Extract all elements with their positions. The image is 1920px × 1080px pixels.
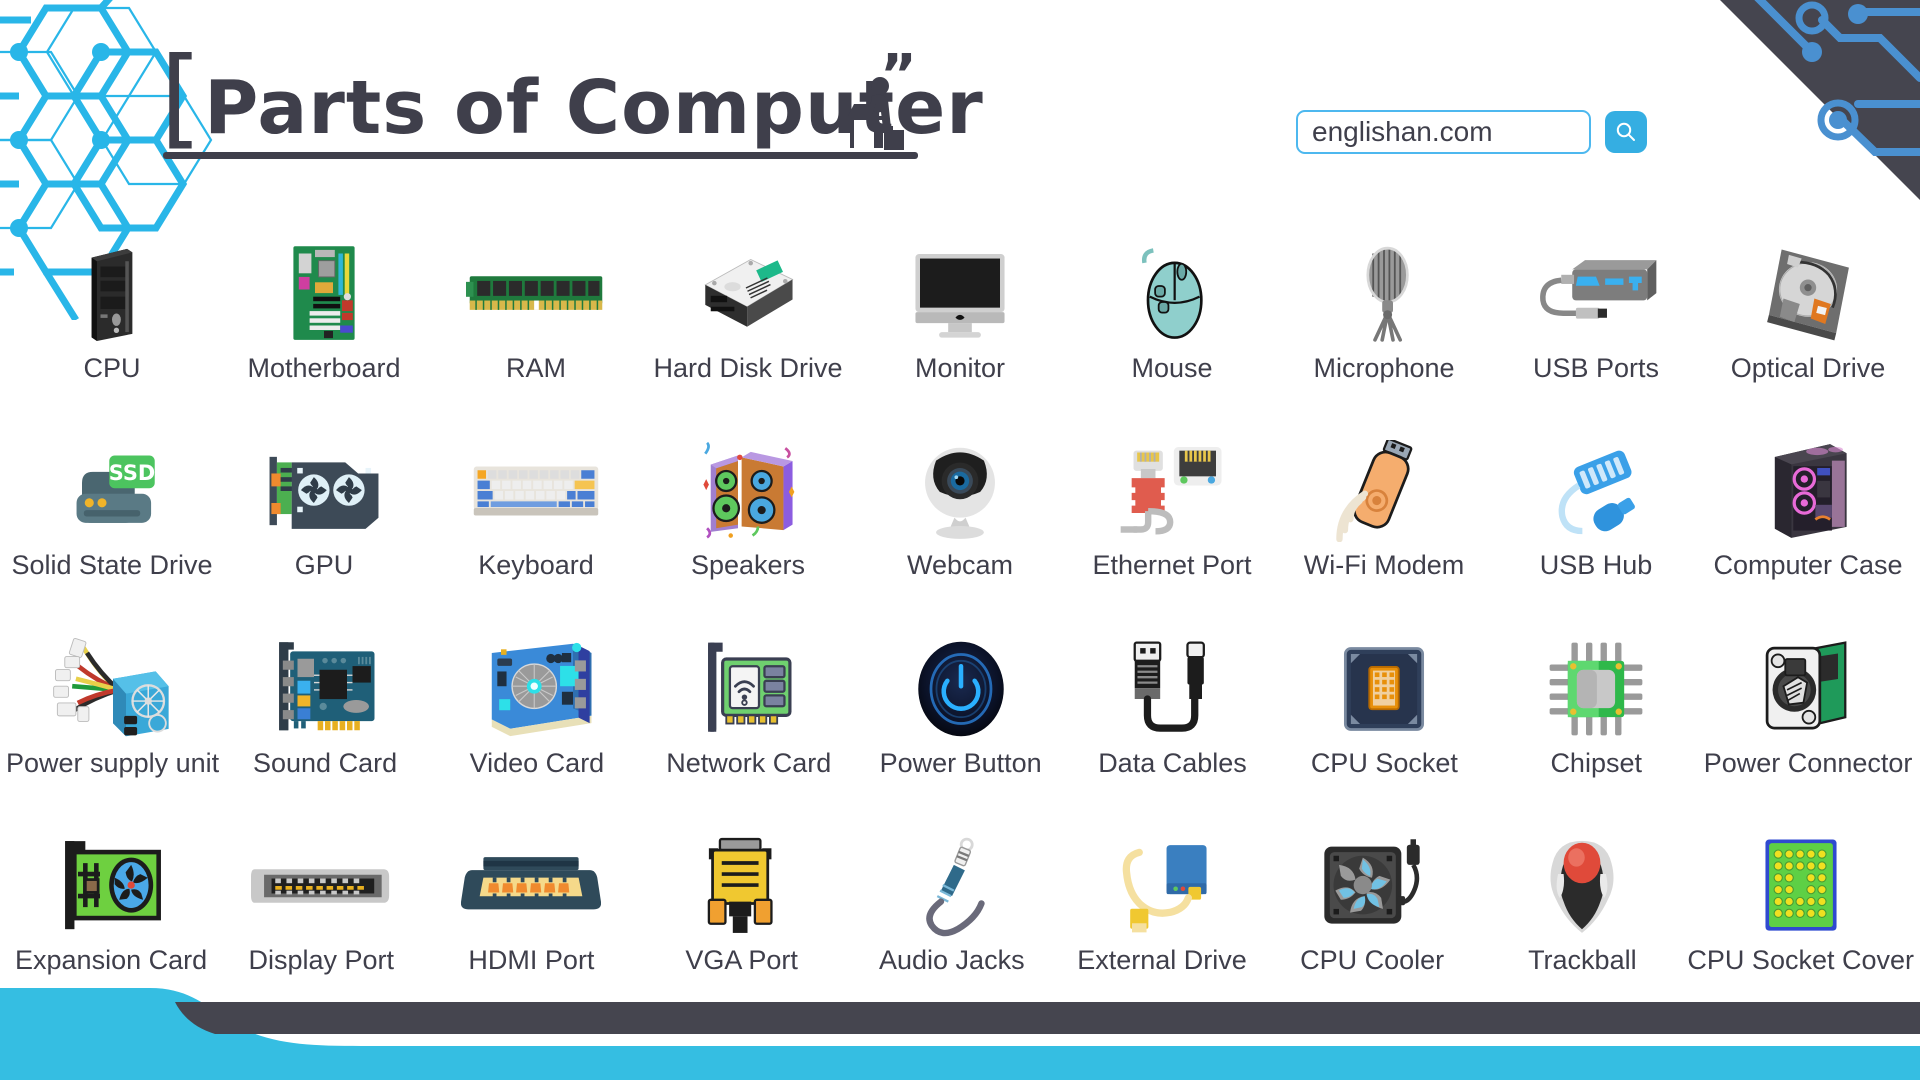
audio-jack-icon bbox=[847, 830, 1057, 942]
keyboard-icon bbox=[430, 435, 642, 547]
part-label: Optical Drive bbox=[1731, 354, 1886, 384]
expansion-card-icon bbox=[6, 830, 216, 942]
external-drive-icon bbox=[1057, 830, 1267, 942]
part-item[interactable]: Keyboard bbox=[430, 388, 642, 586]
part-item[interactable]: Trackball bbox=[1477, 783, 1687, 981]
part-item[interactable]: External Drive bbox=[1057, 783, 1267, 981]
part-item[interactable]: CPU Cooler bbox=[1267, 783, 1477, 981]
part-label: Display Port bbox=[248, 946, 394, 976]
part-item[interactable]: Display Port bbox=[216, 783, 426, 981]
part-item[interactable]: Power Button bbox=[855, 585, 1067, 783]
ram-stick-icon bbox=[430, 238, 642, 350]
part-label: GPU bbox=[295, 551, 354, 581]
part-label: Motherboard bbox=[247, 354, 400, 384]
parts-row: CPU Motherboard RAM Hard Disk Drive Moni… bbox=[0, 190, 1920, 388]
part-item[interactable]: CPU bbox=[6, 190, 218, 388]
part-item[interactable]: Chipset bbox=[1490, 585, 1702, 783]
part-label: CPU Socket bbox=[1311, 749, 1458, 779]
part-item[interactable]: Computer Case bbox=[1702, 388, 1914, 586]
part-label: Computer Case bbox=[1713, 551, 1902, 581]
part-item[interactable]: Network Card bbox=[643, 585, 855, 783]
cpu-socket-cover-icon bbox=[1687, 830, 1914, 942]
part-item[interactable]: CPU Socket bbox=[1278, 585, 1490, 783]
title-underline bbox=[163, 152, 918, 159]
usb-hub-icon bbox=[1490, 435, 1702, 547]
svg-text:SSD: SSD bbox=[109, 461, 156, 485]
part-label: HDMI Port bbox=[468, 946, 594, 976]
part-label: Solid State Drive bbox=[11, 551, 212, 581]
computer-case-icon bbox=[1702, 435, 1914, 547]
part-label: External Drive bbox=[1077, 946, 1247, 976]
gpu-icon bbox=[218, 435, 430, 547]
part-item[interactable]: HDMI Port bbox=[426, 783, 636, 981]
part-item[interactable]: VGA Port bbox=[637, 783, 847, 981]
part-label: Expansion Card bbox=[15, 946, 207, 976]
parts-row: SSD Solid State Drive GPU Keyboard bbox=[0, 388, 1920, 586]
part-label: Wi-Fi Modem bbox=[1304, 551, 1465, 581]
search-area bbox=[1296, 110, 1647, 154]
motherboard-icon bbox=[218, 238, 430, 350]
computer-tower-icon bbox=[6, 238, 218, 350]
search-icon bbox=[1614, 120, 1638, 144]
part-item[interactable]: Optical Drive bbox=[1702, 190, 1914, 388]
mouse-icon bbox=[1066, 238, 1278, 350]
part-item[interactable]: Power supply unit bbox=[6, 585, 219, 783]
person-at-desk-icon bbox=[840, 72, 910, 152]
part-label: Data Cables bbox=[1098, 749, 1247, 779]
part-item[interactable]: Data Cables bbox=[1067, 585, 1279, 783]
hard-disk-drive-icon bbox=[642, 238, 854, 350]
part-item[interactable]: Video Card bbox=[431, 585, 643, 783]
parts-grid: CPU Motherboard RAM Hard Disk Drive Moni… bbox=[0, 190, 1920, 980]
part-label: Network Card bbox=[666, 749, 831, 779]
part-label: VGA Port bbox=[685, 946, 798, 976]
bottom-bar-dark bbox=[0, 988, 1920, 1080]
part-item[interactable]: Webcam bbox=[854, 388, 1066, 586]
part-label: Audio Jacks bbox=[879, 946, 1025, 976]
part-label: Power supply unit bbox=[6, 749, 219, 779]
search-button[interactable] bbox=[1605, 111, 1647, 153]
part-item[interactable]: Ethernet Port bbox=[1066, 388, 1278, 586]
part-label: Sound Card bbox=[253, 749, 397, 779]
parts-row: Expansion Card Display Port HDMI Port VG… bbox=[0, 783, 1920, 981]
parts-row: Power supply unit Sound Card Video Card … bbox=[0, 585, 1920, 783]
power-button-icon bbox=[855, 633, 1067, 745]
search-box[interactable] bbox=[1296, 110, 1591, 154]
part-label: Ethernet Port bbox=[1092, 551, 1251, 581]
microphone-icon bbox=[1278, 238, 1490, 350]
trackball-icon bbox=[1477, 830, 1687, 942]
power-connector-icon bbox=[1702, 633, 1914, 745]
search-input[interactable] bbox=[1312, 116, 1575, 148]
part-label: Trackball bbox=[1528, 946, 1637, 976]
part-label: CPU bbox=[83, 354, 140, 384]
part-item[interactable]: RAM bbox=[430, 190, 642, 388]
data-cables-icon bbox=[1067, 633, 1279, 745]
usb-ports-icon bbox=[1490, 238, 1702, 350]
infographic-page: [ Parts of Computer ” bbox=[0, 0, 1920, 1080]
ethernet-port-icon bbox=[1066, 435, 1278, 547]
part-item[interactable]: USB Hub bbox=[1490, 388, 1702, 586]
part-label: USB Hub bbox=[1540, 551, 1653, 581]
part-label: Power Button bbox=[880, 749, 1042, 779]
part-label: Hard Disk Drive bbox=[653, 354, 842, 384]
part-item[interactable]: GPU bbox=[218, 388, 430, 586]
part-label: USB Ports bbox=[1533, 354, 1659, 384]
part-label: CPU Socket Cover bbox=[1687, 946, 1914, 976]
part-item[interactable]: Hard Disk Drive bbox=[642, 190, 854, 388]
part-label: RAM bbox=[506, 354, 566, 384]
optical-drive-icon bbox=[1702, 238, 1914, 350]
part-item[interactable]: Microphone bbox=[1278, 190, 1490, 388]
part-item[interactable]: Speakers bbox=[642, 388, 854, 586]
title-bracket: [ bbox=[160, 52, 202, 145]
part-label: Power Connector bbox=[1704, 749, 1913, 779]
part-item[interactable]: CPU Socket Cover bbox=[1687, 783, 1914, 981]
part-label: CPU Cooler bbox=[1300, 946, 1444, 976]
part-label: Keyboard bbox=[478, 551, 594, 581]
webcam-icon bbox=[854, 435, 1066, 547]
part-item[interactable]: Motherboard bbox=[218, 190, 430, 388]
wifi-modem-icon bbox=[1278, 435, 1490, 547]
cpu-cooler-icon bbox=[1267, 830, 1477, 942]
part-item[interactable]: Sound Card bbox=[219, 585, 431, 783]
display-port-icon bbox=[216, 830, 426, 942]
monitor-icon bbox=[854, 238, 1066, 350]
part-label: Video Card bbox=[470, 749, 605, 779]
speakers-icon bbox=[642, 435, 854, 547]
page-header: [ Parts of Computer ” bbox=[0, 0, 1920, 185]
part-label: Webcam bbox=[907, 551, 1013, 581]
ssd-icon: SSD bbox=[6, 435, 218, 547]
part-item[interactable]: Wi-Fi Modem bbox=[1278, 388, 1490, 586]
power-supply-unit-icon bbox=[6, 633, 219, 745]
part-item[interactable]: USB Ports bbox=[1490, 190, 1702, 388]
network-card-icon bbox=[643, 633, 855, 745]
video-card-icon bbox=[431, 633, 643, 745]
vga-port-icon bbox=[637, 830, 847, 942]
part-item[interactable]: Monitor bbox=[854, 190, 1066, 388]
part-label: Monitor bbox=[915, 354, 1005, 384]
cpu-socket-icon bbox=[1278, 633, 1490, 745]
chipset-icon bbox=[1490, 633, 1702, 745]
sound-card-icon bbox=[219, 633, 431, 745]
part-item[interactable]: Audio Jacks bbox=[847, 783, 1057, 981]
part-item[interactable]: Expansion Card bbox=[6, 783, 216, 981]
part-label: Microphone bbox=[1313, 354, 1454, 384]
part-label: Mouse bbox=[1131, 354, 1212, 384]
part-item[interactable]: SSD Solid State Drive bbox=[6, 388, 218, 586]
part-label: Speakers bbox=[691, 551, 805, 581]
hdmi-port-icon bbox=[426, 830, 636, 942]
part-label: Chipset bbox=[1550, 749, 1642, 779]
part-item[interactable]: Power Connector bbox=[1702, 585, 1914, 783]
part-item[interactable]: Mouse bbox=[1066, 190, 1278, 388]
